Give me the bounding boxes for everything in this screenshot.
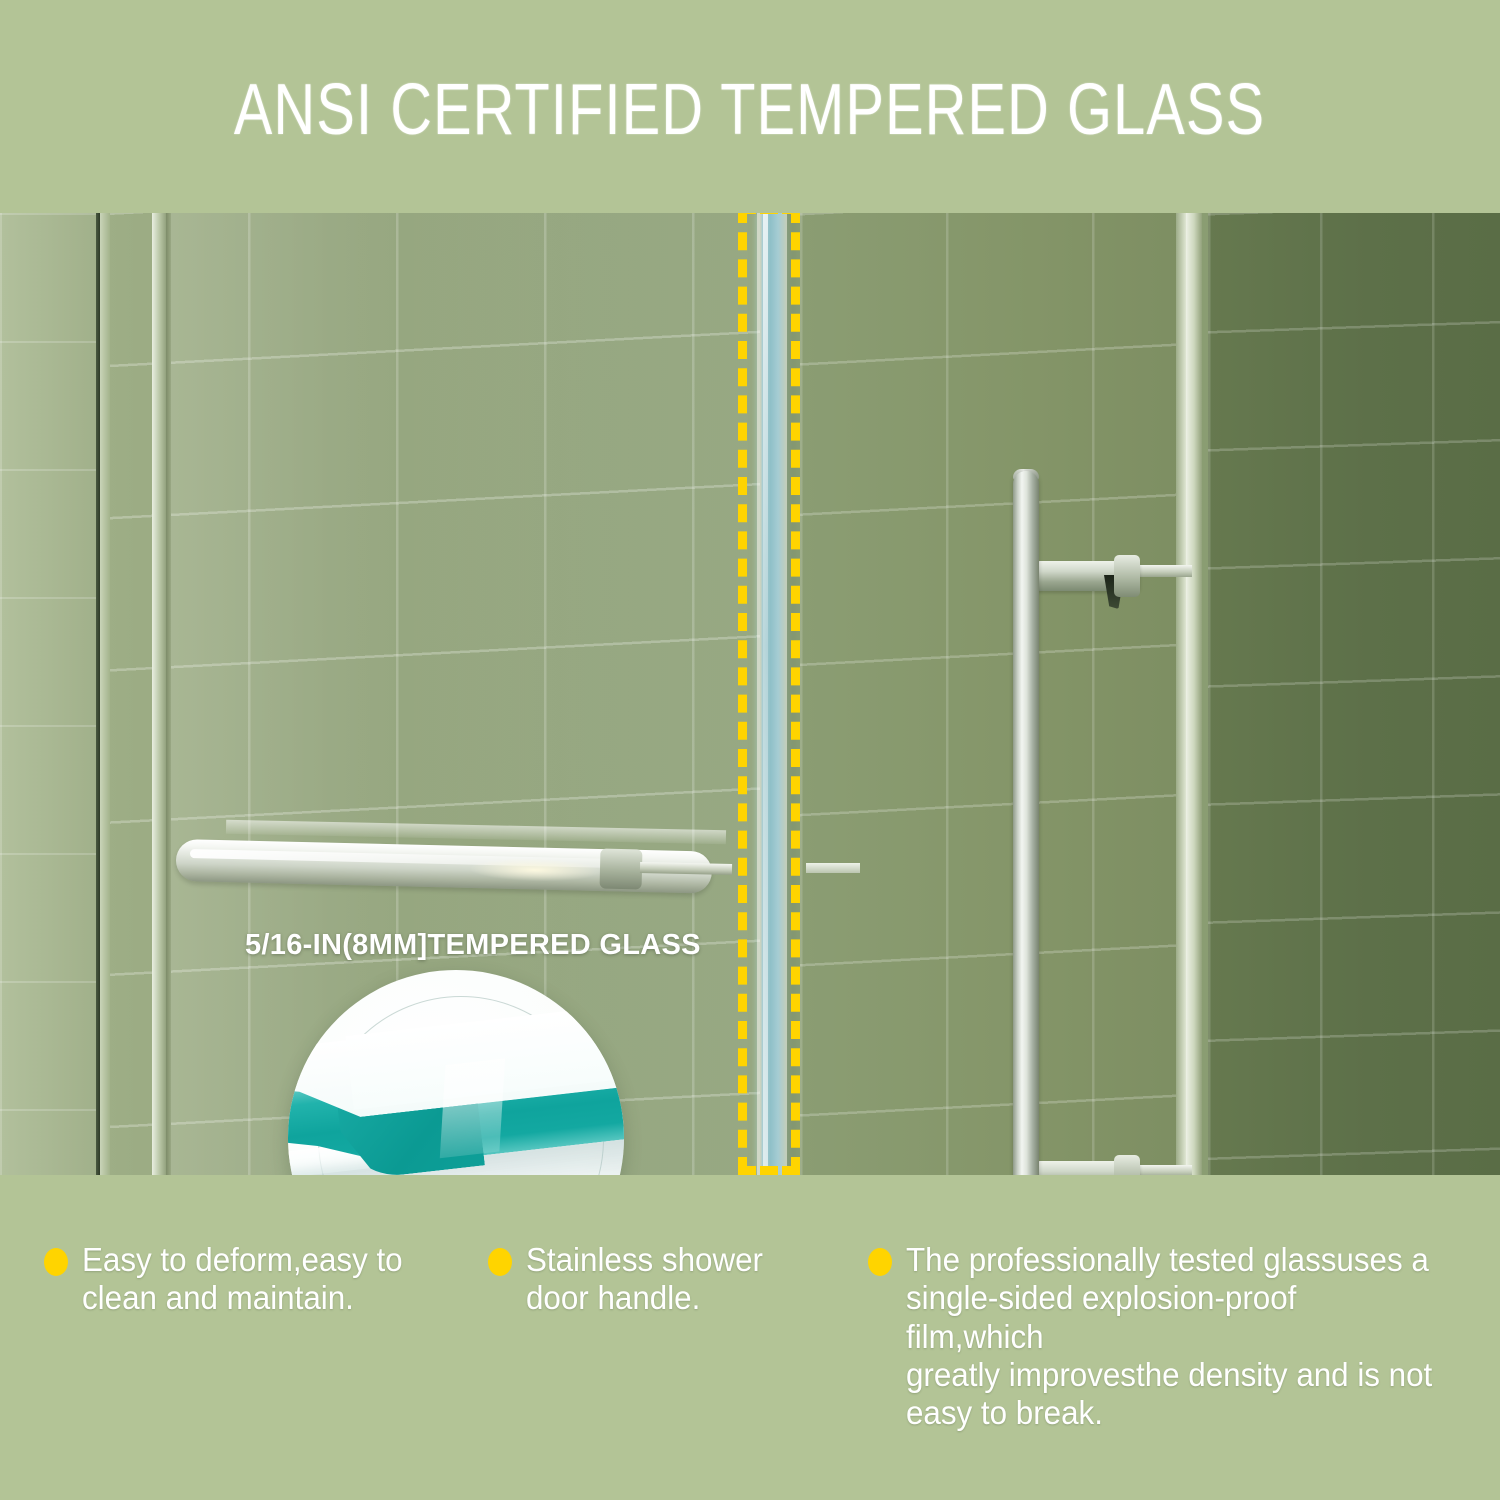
bullet-dot-icon [488,1248,512,1276]
bullet-line: Easy to deform,easy to [82,1241,403,1279]
pull-bar-hotspot [470,858,600,883]
tile-wall-left [0,213,100,1175]
tile-wall-right [1208,213,1500,1175]
bullet-line: The professionally tested glassuses a [906,1241,1440,1279]
tempered-glass-edge-shadow [787,213,800,1175]
pull-bar-stub [806,863,860,873]
bullet-text: The professionally tested glassuses a si… [906,1241,1440,1432]
bullet-line: easy to break. [906,1394,1440,1432]
product-photo: 5/16-IN(8MM]TEMPERED GLASS Safety Round … [0,213,1500,1175]
tempered-glass-edge-gloss [763,213,768,1175]
bullet-dot-icon [868,1248,892,1276]
bullet-line: single-sided explosion-proof film,which [906,1279,1440,1356]
bullet-easy-clean: Easy to deform,easy to clean and maintai… [44,1241,444,1318]
bullet-explosion-proof-film: The professionally tested glassuses a si… [868,1241,1468,1432]
header-banner: ANSI CERTIFIED TEMPERED GLASS [0,0,1500,213]
bullet-dot-icon [44,1248,68,1276]
glass-frame-right-inner [1176,213,1186,1175]
glass-thickness-label: 5/16-IN(8MM]TEMPERED GLASS [245,929,701,962]
bullet-line: door handle. [526,1279,763,1317]
glass-frame-right [1186,213,1202,1175]
glass-frame-left [152,213,166,1175]
bullet-line: clean and maintain. [82,1279,403,1317]
handle-rail-top [1136,565,1192,577]
pull-bar-collar [600,849,643,890]
bullet-line: greatly improvesthe density and is not [906,1356,1440,1394]
page-title: ANSI CERTIFIED TEMPERED GLASS [234,63,1265,151]
glass-frame-left-inner [166,213,171,1175]
tile-wall-mid [800,213,1190,1175]
corner-trim [100,213,110,1175]
bullet-text: Easy to deform,easy to clean and maintai… [82,1241,403,1318]
tempered-glass-edge [757,213,787,1175]
bullet-stainless-handle: Stainless shower door handle. [488,1241,818,1318]
handle-rail-bottom [1136,1165,1192,1175]
shower-door-handle[interactable] [1013,471,1039,1175]
arc-text-svg: Safety Round Corner [288,970,624,1175]
handle-knob-bottom [1114,1155,1140,1175]
bullet-text: Stainless shower door handle. [526,1241,763,1318]
handle-knob-top [1114,555,1140,597]
safety-round-corner-callout: Safety Round Corner [288,970,624,1175]
pull-bar-stem [640,862,732,875]
product-infographic: ANSI CERTIFIED TEMPERED GLASS [0,0,1500,1500]
feature-bullets: Easy to deform,easy to clean and maintai… [0,1175,1500,1500]
bullet-line: Stainless shower [526,1241,763,1279]
